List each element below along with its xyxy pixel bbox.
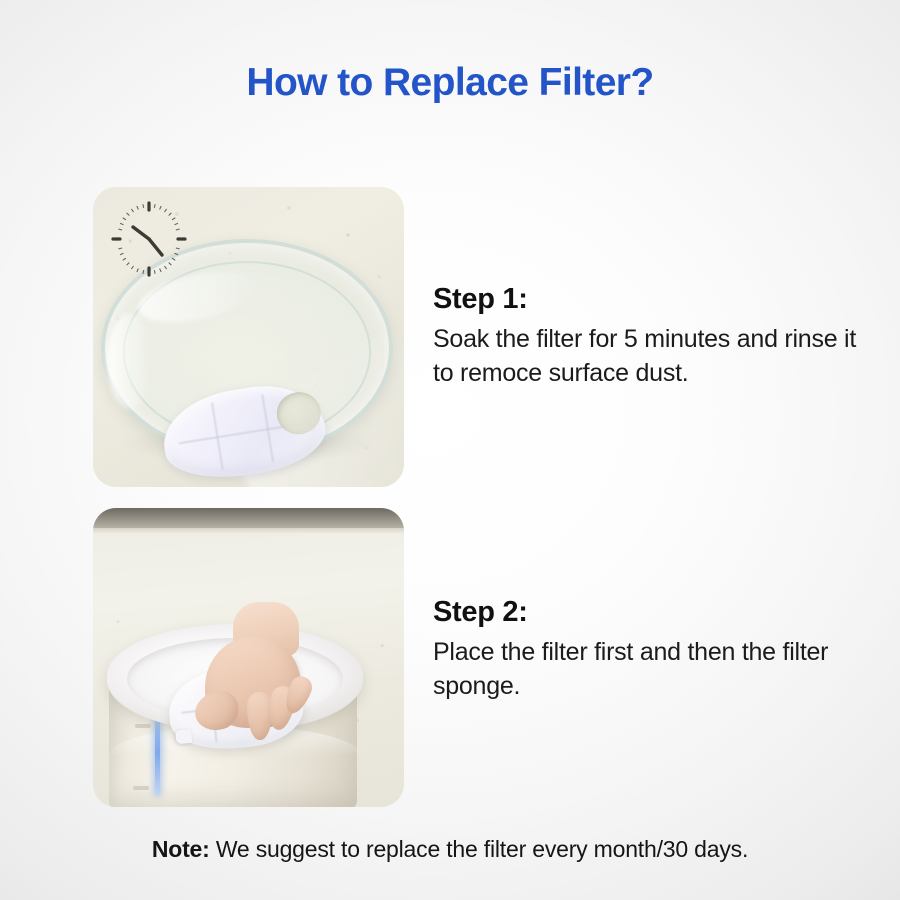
step-2-description: Place the filter first and then the filt… bbox=[433, 635, 873, 703]
bowl-glass-highlight bbox=[107, 313, 153, 409]
note-label: Note: bbox=[152, 836, 210, 862]
step-1-label: Step 1: bbox=[433, 283, 873, 317]
body-marking bbox=[135, 724, 151, 728]
hand bbox=[189, 636, 309, 770]
clock-icon bbox=[107, 197, 191, 281]
step-1-photo bbox=[93, 187, 404, 487]
step-2-text: Step 2: Place the filter first and then … bbox=[433, 596, 873, 703]
step-1-text: Step 1: Soak the filter for 5 minutes an… bbox=[433, 283, 873, 390]
counter-back-edge bbox=[93, 508, 404, 528]
step-2-photo bbox=[93, 508, 404, 807]
counter-back-edge-light bbox=[93, 528, 404, 534]
step-2-label: Step 2: bbox=[433, 596, 873, 630]
pet-water-fountain bbox=[107, 624, 375, 807]
note-text: We suggest to replace the filter every m… bbox=[210, 836, 749, 862]
step-1-description: Soak the filter for 5 minutes and rinse … bbox=[433, 322, 873, 390]
page-title: How to Replace Filter? bbox=[0, 62, 900, 105]
body-marking bbox=[133, 786, 149, 790]
instruction-card: How to Replace Filter? bbox=[0, 0, 900, 900]
note: Note: We suggest to replace the filter e… bbox=[0, 836, 900, 863]
